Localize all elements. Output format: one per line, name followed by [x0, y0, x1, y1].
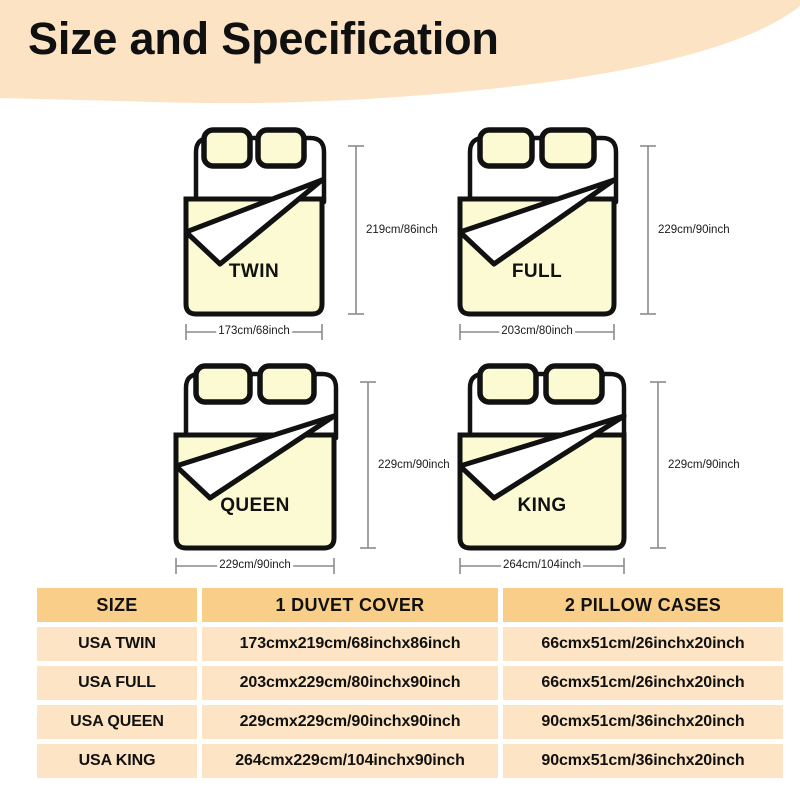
- cell-pillow: 66cmx51cm/26inchx20inch: [503, 666, 783, 700]
- header-banner: Size and Specification: [0, 0, 800, 120]
- pillow-right: [542, 130, 594, 166]
- bed-label-full: FULL: [512, 261, 562, 283]
- height-dimension-label-queen: 229cm/90inch: [376, 458, 452, 472]
- cell-pillow: 66cmx51cm/26inchx20inch: [503, 627, 783, 661]
- pillow-right: [546, 366, 602, 402]
- cell-duvet: 229cmx229cm/90inchx90inch: [202, 705, 498, 739]
- height-dimension-label-full: 229cm/90inch: [656, 223, 732, 237]
- column-header-pillow: 2 PILLOW CASES: [503, 588, 783, 622]
- column-header-size: SIZE: [37, 588, 197, 622]
- bed-label-twin: TWIN: [229, 261, 279, 283]
- pillow-left: [480, 366, 536, 402]
- table-row: USA KING 264cmx229cm/104inchx90inch 90cm…: [37, 744, 783, 778]
- table-row: USA QUEEN 229cmx229cm/90inchx90inch 90cm…: [37, 705, 783, 739]
- width-dimension-label-full: 203cm/80inch: [499, 324, 575, 338]
- cell-size: USA KING: [37, 744, 197, 778]
- cell-pillow: 90cmx51cm/36inchx20inch: [503, 744, 783, 778]
- height-dimension-label-twin: 219cm/86inch: [364, 223, 440, 237]
- specification-table: SIZE 1 DUVET COVER 2 PILLOW CASES USA TW…: [32, 583, 788, 783]
- bed-diagram-twin: TWIN 219cm/86inch 173cm/68inch: [178, 124, 428, 349]
- size-spec-page: Size and Specification: [0, 0, 800, 800]
- cell-size: USA QUEEN: [37, 705, 197, 739]
- pillow-left: [196, 366, 250, 402]
- width-dimension-label-queen: 229cm/90inch: [217, 558, 293, 572]
- pillow-right: [260, 366, 314, 402]
- table-row: USA TWIN 173cmx219cm/68inchx86inch 66cmx…: [37, 627, 783, 661]
- bed-diagram-king: KING 229cm/90inch 264cm/104inch: [452, 360, 742, 582]
- pillow-left: [204, 130, 250, 166]
- cell-duvet: 203cmx229cm/80inchx90inch: [202, 666, 498, 700]
- height-dimension-label-king: 229cm/90inch: [666, 458, 742, 472]
- cell-duvet: 264cmx229cm/104inchx90inch: [202, 744, 498, 778]
- cell-pillow: 90cmx51cm/36inchx20inch: [503, 705, 783, 739]
- bed-label-queen: QUEEN: [220, 495, 290, 517]
- page-title: Size and Specification: [28, 14, 499, 64]
- table-header-row: SIZE 1 DUVET COVER 2 PILLOW CASES: [37, 588, 783, 622]
- column-header-duvet: 1 DUVET COVER: [202, 588, 498, 622]
- cell-size: USA FULL: [37, 666, 197, 700]
- width-dimension-label-king: 264cm/104inch: [501, 558, 583, 572]
- bed-diagram-queen: QUEEN 229cm/90inch 229cm/90inch: [168, 360, 438, 582]
- bed-diagram-grid: TWIN 219cm/86inch 173cm/68inch FULL: [0, 112, 800, 580]
- pillow-left: [480, 130, 532, 166]
- cell-size: USA TWIN: [37, 627, 197, 661]
- bed-diagram-full: FULL 229cm/90inch 203cm/80inch: [452, 124, 722, 349]
- pillow-right: [258, 130, 304, 166]
- table-row: USA FULL 203cmx229cm/80inchx90inch 66cmx…: [37, 666, 783, 700]
- bed-label-king: KING: [517, 495, 566, 517]
- cell-duvet: 173cmx219cm/68inchx86inch: [202, 627, 498, 661]
- width-dimension-label-twin: 173cm/68inch: [216, 324, 292, 338]
